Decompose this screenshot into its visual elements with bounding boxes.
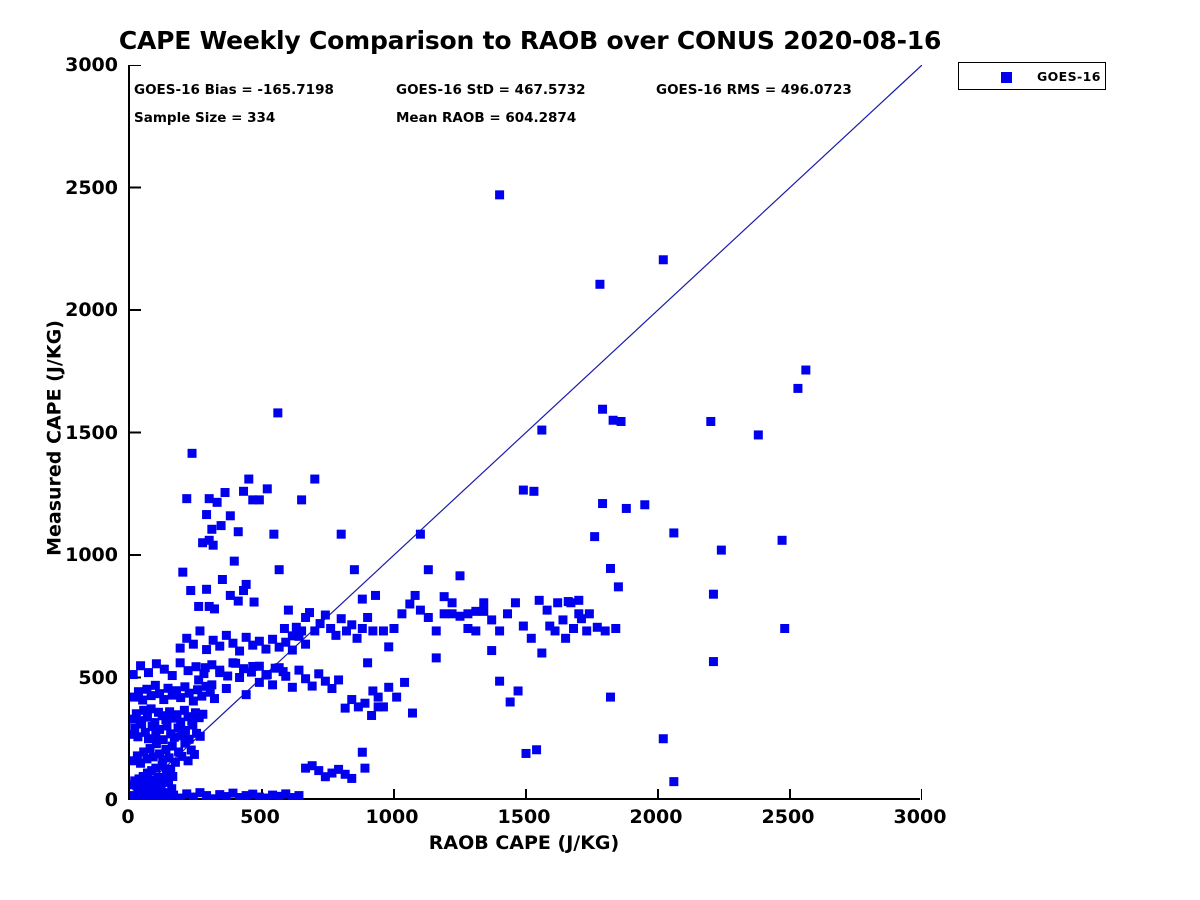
data-point: [801, 366, 810, 375]
data-point: [659, 255, 668, 264]
x-tick-label: 0: [68, 806, 188, 828]
data-point: [176, 644, 185, 653]
data-point: [130, 670, 138, 679]
data-point: [577, 614, 586, 623]
data-point: [196, 732, 205, 741]
data-point: [280, 624, 289, 633]
data-point: [537, 426, 546, 435]
data-point: [242, 690, 251, 699]
data-point: [543, 606, 552, 615]
data-point: [205, 494, 214, 503]
chart-figure: CAPE Weekly Comparison to RAOB over CONU…: [0, 0, 1200, 900]
data-point: [569, 624, 578, 633]
data-point: [495, 677, 504, 686]
data-point: [717, 546, 726, 555]
data-point: [456, 612, 465, 621]
data-point: [182, 494, 191, 503]
data-point: [226, 511, 235, 520]
data-point: [709, 657, 718, 666]
data-point: [176, 658, 185, 667]
y-axis-title: Measured CAPE (J/KG): [44, 71, 66, 806]
data-point: [535, 596, 544, 605]
data-point: [384, 683, 393, 692]
scatter-plot-canvas: [130, 65, 922, 800]
data-point: [337, 614, 346, 623]
data-point: [360, 699, 369, 708]
data-point: [226, 591, 235, 600]
data-point: [268, 680, 277, 689]
data-point: [487, 646, 496, 655]
data-point: [432, 653, 441, 662]
data-point: [754, 430, 763, 439]
data-point: [189, 697, 198, 706]
data-point: [416, 530, 425, 539]
data-point: [384, 642, 393, 651]
data-point: [239, 664, 248, 673]
data-point: [456, 571, 465, 580]
data-point: [192, 662, 201, 671]
data-point: [197, 692, 206, 701]
data-point: [190, 750, 199, 759]
data-point: [463, 609, 472, 618]
data-point: [503, 609, 512, 618]
x-tick-label: 2500: [728, 806, 848, 828]
data-point: [288, 631, 297, 640]
data-point: [152, 659, 161, 668]
data-point: [327, 684, 336, 693]
data-point: [305, 608, 314, 617]
x-tick-label: 3000: [860, 806, 980, 828]
x-axis-title: RAOB CAPE (J/KG): [128, 832, 920, 854]
data-point: [144, 668, 153, 677]
data-point: [374, 702, 383, 711]
data-point: [205, 602, 214, 611]
data-point: [321, 611, 330, 620]
data-point: [198, 710, 207, 719]
chart-title: CAPE Weekly Comparison to RAOB over CONU…: [0, 26, 1060, 55]
data-point: [590, 532, 599, 541]
data-point: [194, 675, 203, 684]
data-point: [255, 495, 264, 504]
data-point: [537, 649, 546, 658]
data-point: [353, 634, 362, 643]
data-point: [367, 711, 376, 720]
data-point: [159, 695, 168, 704]
data-point: [374, 693, 383, 702]
data-point: [268, 635, 277, 644]
data-point: [301, 640, 310, 649]
data-point: [297, 626, 306, 635]
data-point: [405, 600, 414, 609]
data-point: [215, 642, 224, 651]
data-point: [440, 609, 449, 618]
data-point: [614, 582, 623, 591]
data-point: [487, 615, 496, 624]
data-point: [606, 564, 615, 573]
data-point: [261, 671, 270, 680]
data-point: [519, 486, 528, 495]
data-point: [522, 749, 531, 758]
data-point: [281, 672, 290, 681]
data-point: [440, 592, 449, 601]
data-point: [611, 624, 620, 633]
data-point: [239, 487, 248, 496]
data-point: [222, 684, 231, 693]
data-point: [617, 417, 626, 426]
data-point: [189, 640, 198, 649]
data-point: [780, 624, 789, 633]
data-point: [514, 686, 523, 695]
data-point: [207, 680, 216, 689]
data-point: [217, 521, 226, 530]
data-point: [185, 689, 194, 698]
x-tick-label: 500: [200, 806, 320, 828]
data-point: [176, 693, 185, 702]
data-point: [138, 696, 147, 705]
data-point: [188, 449, 197, 458]
data-point: [222, 631, 231, 640]
data-point: [585, 609, 594, 618]
data-point: [294, 666, 303, 675]
data-point: [669, 528, 678, 537]
data-point: [235, 647, 244, 656]
data-point: [284, 606, 293, 615]
data-point: [250, 598, 259, 607]
data-point: [178, 568, 187, 577]
data-point: [432, 626, 441, 635]
data-point: [228, 639, 237, 648]
data-point: [168, 772, 177, 781]
data-point: [308, 682, 317, 691]
data-point: [255, 637, 264, 646]
data-point: [347, 774, 356, 783]
data-point: [360, 764, 369, 773]
data-point: [310, 475, 319, 484]
data-point: [337, 530, 346, 539]
data-point: [273, 408, 282, 417]
data-point: [532, 745, 541, 754]
data-point: [778, 536, 787, 545]
data-point: [294, 791, 303, 800]
data-point: [424, 613, 433, 622]
data-point: [392, 693, 401, 702]
data-point: [234, 527, 243, 536]
data-point: [341, 704, 350, 713]
data-point: [400, 678, 409, 687]
data-point: [151, 681, 160, 690]
data-point: [221, 488, 230, 497]
data-point: [228, 658, 237, 667]
data-point: [598, 405, 607, 414]
data-point: [186, 586, 195, 595]
data-point: [368, 626, 377, 635]
data-point: [593, 623, 602, 632]
scatter-series-goes-16: [130, 190, 810, 800]
data-point: [463, 624, 472, 633]
data-point: [553, 598, 562, 607]
data-point: [230, 557, 239, 566]
data-point: [606, 693, 615, 702]
data-point: [506, 698, 515, 707]
data-point: [363, 613, 372, 622]
data-point: [622, 504, 631, 513]
data-point: [269, 530, 278, 539]
data-point: [595, 280, 604, 289]
data-point: [358, 595, 367, 604]
data-point: [529, 487, 538, 496]
data-point: [424, 565, 433, 574]
data-point: [213, 498, 222, 507]
data-point: [202, 585, 211, 594]
data-point: [495, 626, 504, 635]
data-point: [609, 416, 618, 425]
data-point: [288, 683, 297, 692]
x-tick-label: 2000: [596, 806, 716, 828]
data-point: [316, 619, 325, 628]
data-point: [215, 668, 224, 677]
data-point: [408, 709, 417, 718]
data-point: [582, 626, 591, 635]
data-point: [160, 665, 169, 674]
data-point: [210, 694, 219, 703]
data-point: [218, 575, 227, 584]
data-point: [331, 631, 340, 640]
data-point: [234, 597, 243, 606]
data-point: [397, 609, 406, 618]
data-point: [495, 190, 504, 199]
data-point: [184, 666, 193, 675]
data-point: [275, 565, 284, 574]
data-point: [275, 663, 284, 672]
data-point: [390, 624, 399, 633]
data-point: [242, 633, 251, 642]
data-point: [248, 662, 257, 671]
legend-swatch-goes16-icon: [1001, 72, 1012, 83]
x-tick-label: 1000: [332, 806, 452, 828]
data-point: [334, 675, 343, 684]
data-point: [479, 607, 488, 616]
data-point: [558, 615, 567, 624]
data-point: [669, 777, 678, 786]
data-point: [411, 591, 420, 600]
data-point: [371, 591, 380, 600]
data-point: [561, 634, 570, 643]
data-point: [659, 734, 668, 743]
data-point: [416, 606, 425, 615]
data-point: [358, 748, 367, 757]
legend-label-goes16: GOES-16: [1037, 69, 1101, 84]
data-point: [147, 691, 156, 700]
data-point: [358, 624, 367, 633]
data-point: [598, 499, 607, 508]
data-point: [471, 607, 480, 616]
x-tick-label: 1500: [464, 806, 584, 828]
data-point: [235, 673, 244, 682]
data-point: [202, 510, 211, 519]
data-point: [511, 598, 520, 607]
data-point: [640, 500, 649, 509]
data-point: [244, 475, 253, 484]
data-point: [706, 417, 715, 426]
data-point: [793, 384, 802, 393]
data-point: [297, 495, 306, 504]
data-point: [194, 602, 203, 611]
data-point: [202, 645, 211, 654]
data-point: [545, 622, 554, 631]
data-point: [347, 620, 356, 629]
legend-box: GOES-16: [958, 62, 1106, 90]
data-point: [134, 687, 143, 696]
data-point: [209, 541, 218, 550]
data-point: [527, 634, 536, 643]
data-point: [239, 586, 248, 595]
one-to-one-reference-line: [130, 65, 922, 800]
data-point: [471, 626, 480, 635]
data-point: [363, 658, 372, 667]
data-point: [350, 565, 359, 574]
data-point: [136, 661, 145, 670]
data-point: [379, 626, 388, 635]
data-point: [261, 645, 270, 654]
data-point: [223, 672, 232, 681]
data-point: [263, 484, 272, 493]
data-point: [519, 622, 528, 631]
data-point: [479, 598, 488, 607]
data-point: [288, 646, 297, 655]
data-point: [195, 626, 204, 635]
data-point: [201, 663, 210, 672]
plot-area: [128, 65, 920, 800]
data-point: [564, 597, 573, 606]
data-point: [709, 590, 718, 599]
data-point: [448, 609, 457, 618]
data-point: [601, 626, 610, 635]
data-point: [168, 671, 177, 680]
data-point: [574, 596, 583, 605]
data-point: [448, 598, 457, 607]
data-point: [207, 525, 216, 534]
